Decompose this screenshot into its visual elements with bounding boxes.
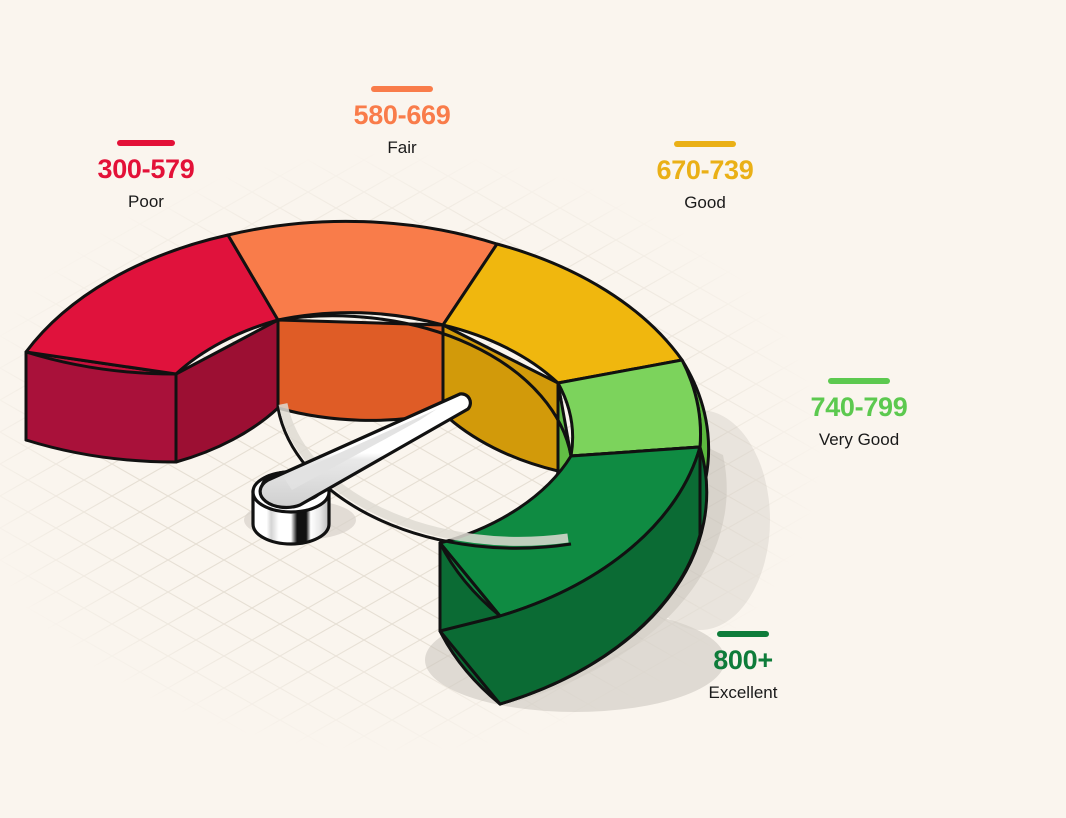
callout-verygood: 740-799 Very Good	[769, 378, 949, 449]
callout-name-excellent: Excellent	[653, 684, 833, 702]
callout-dash-poor	[117, 140, 175, 146]
callout-range-good: 670-739	[615, 156, 795, 184]
callout-good: 670-739 Good	[615, 141, 795, 212]
callout-dash-good	[674, 141, 736, 147]
callout-dash-verygood	[828, 378, 890, 384]
callout-range-excellent: 800+	[653, 646, 833, 674]
callout-name-poor: Poor	[56, 193, 236, 211]
callout-name-verygood: Very Good	[769, 431, 949, 449]
callout-excellent: 800+ Excellent	[653, 631, 833, 702]
callout-name-fair: Fair	[312, 139, 492, 157]
callout-fair: 580-669 Fair	[312, 86, 492, 157]
callout-range-verygood: 740-799	[769, 393, 949, 421]
callout-dash-excellent	[717, 631, 769, 637]
callout-dash-fair	[371, 86, 433, 92]
callout-range-poor: 300-579	[56, 155, 236, 183]
credit-score-gauge-infographic: 300-579 Poor 580-669 Fair 670-739 Good 7…	[0, 0, 1066, 818]
callout-range-fair: 580-669	[312, 101, 492, 129]
callout-poor: 300-579 Poor	[56, 140, 236, 211]
callout-name-good: Good	[615, 194, 795, 212]
